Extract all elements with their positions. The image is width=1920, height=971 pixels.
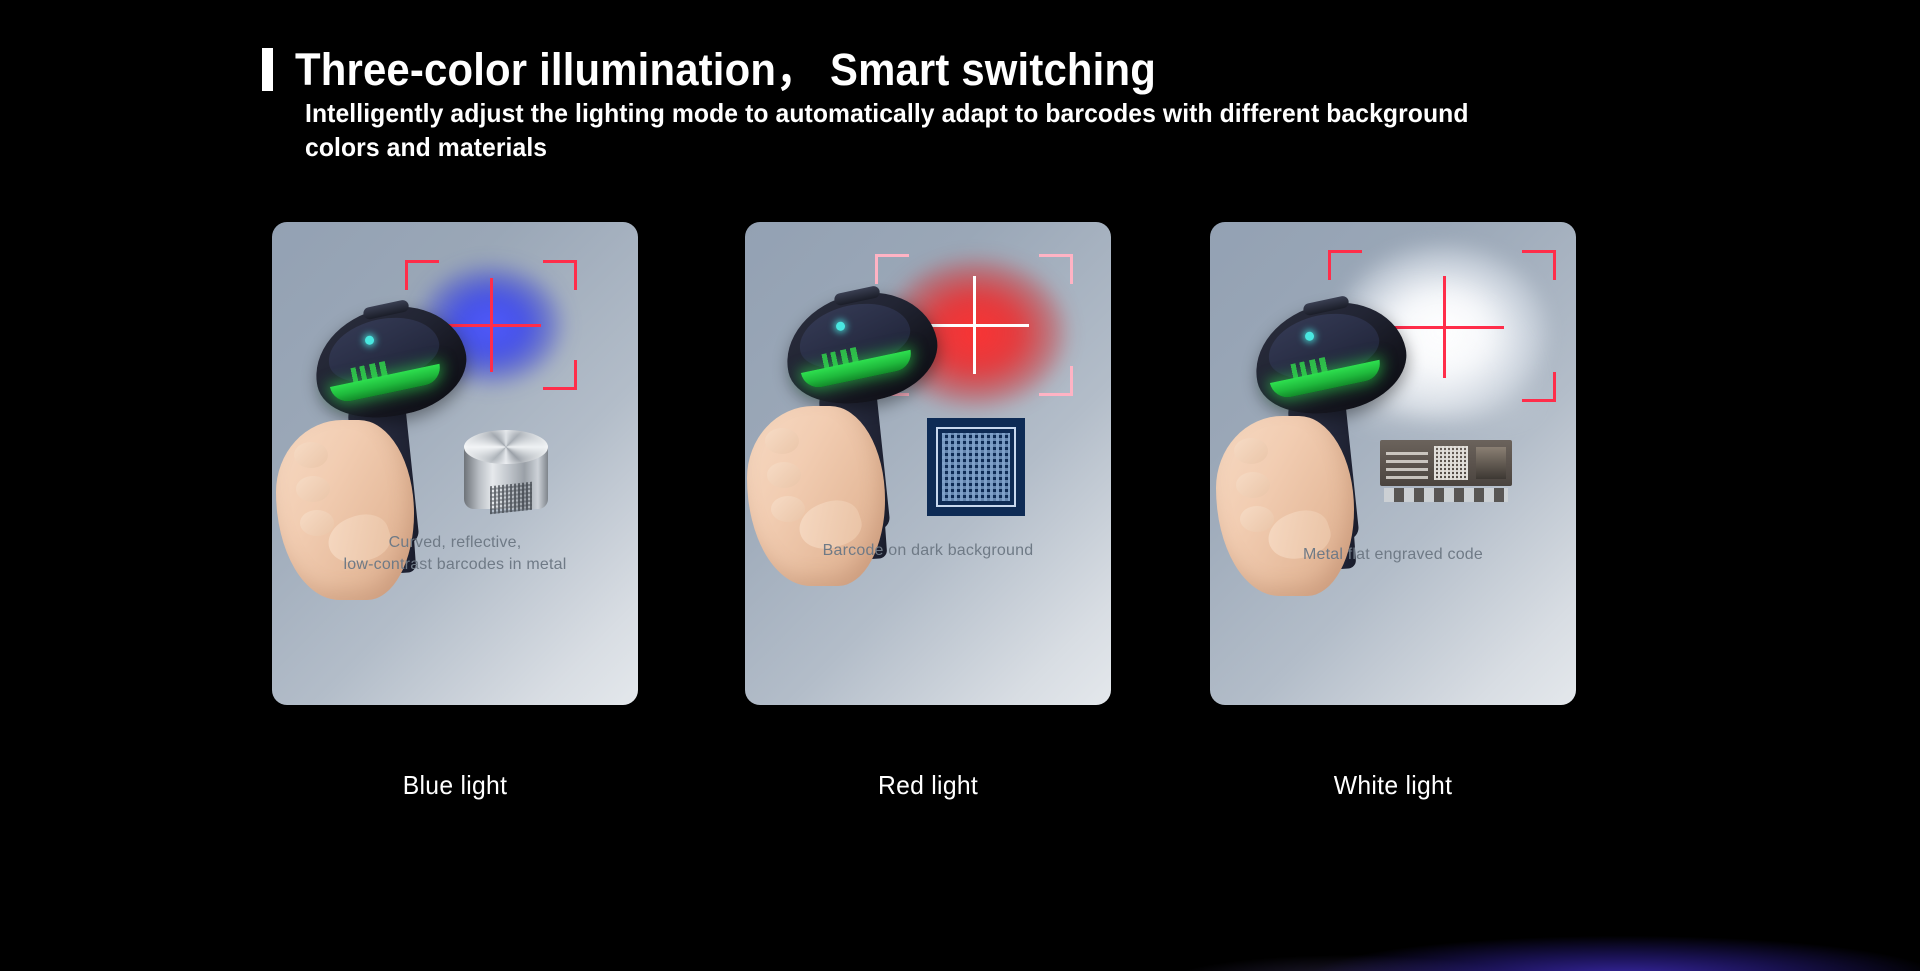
- bottom-purple-glow: [1150, 911, 1920, 971]
- panel-caption-white: Metal flat engraved code: [1210, 544, 1576, 566]
- panel-label-blue: Blue light: [281, 770, 629, 801]
- chip-window: [1476, 447, 1506, 479]
- reticle-corner-top-left: [405, 260, 439, 290]
- knuckle: [1234, 438, 1268, 464]
- knuckle: [771, 496, 805, 522]
- page-title: Three-color illumination， Smart switchin…: [295, 47, 1156, 92]
- panel-blue-light[interactable]: Curved, reflective, low-contrast barcode…: [272, 222, 638, 705]
- knuckle: [1236, 472, 1270, 498]
- caption-line-1: Metal flat engraved code: [1210, 544, 1576, 566]
- reticle-corner-top-right: [1522, 250, 1556, 280]
- cylinder-engraved-code: [490, 482, 532, 514]
- illumination-panels: Curved, reflective, low-contrast barcode…: [0, 222, 1920, 758]
- datamatrix-frame: [936, 427, 1016, 507]
- panel-white-light[interactable]: Metal flat engraved code: [1210, 222, 1576, 705]
- target-engraved-chip: [1380, 440, 1512, 502]
- reticle-corner-top-right: [543, 260, 577, 290]
- knuckle: [294, 442, 328, 468]
- panel-label-white: White light: [1219, 770, 1567, 801]
- caption-line-1: Barcode on dark background: [745, 540, 1111, 562]
- reticle-corner-bottom-right: [1522, 372, 1556, 402]
- knuckle: [765, 428, 799, 454]
- reticle-corner-bottom-right: [1039, 366, 1073, 396]
- reticle-crosshair: [919, 276, 1029, 374]
- page-subtitle: Intelligently adjust the lighting mode t…: [305, 96, 1531, 165]
- reticle-corner-bottom-right: [543, 360, 577, 390]
- reticle-corner-top-left: [875, 254, 909, 284]
- reticle-corner-top-right: [1039, 254, 1073, 284]
- caption-line-1: Curved, reflective,: [272, 532, 638, 554]
- knuckle: [1240, 506, 1274, 532]
- panel-caption-red: Barcode on dark background: [745, 540, 1111, 562]
- title-row: Three-color illumination， Smart switchin…: [262, 47, 1221, 92]
- target-metal-cylinder: [464, 430, 548, 516]
- slide-stage: Three-color illumination， Smart switchin…: [0, 0, 1920, 971]
- chip-pins: [1384, 488, 1508, 502]
- caption-line-2: low-contrast barcodes in metal: [272, 554, 638, 576]
- chip-datamatrix-code: [1434, 446, 1468, 480]
- hand: [1216, 416, 1354, 596]
- reticle-corner-top-left: [1328, 250, 1362, 280]
- datamatrix-code: [942, 433, 1010, 501]
- knuckle: [767, 462, 801, 488]
- chip-engraved-text: [1386, 447, 1428, 479]
- panel-red-light[interactable]: Barcode on dark background: [745, 222, 1111, 705]
- cylinder-top-face: [464, 430, 548, 464]
- target-datamatrix-plate: [927, 418, 1025, 516]
- title-accent-bar: [262, 48, 273, 91]
- panel-caption-blue: Curved, reflective, low-contrast barcode…: [272, 532, 638, 576]
- panel-label-red: Red light: [754, 770, 1102, 801]
- knuckle: [296, 476, 330, 502]
